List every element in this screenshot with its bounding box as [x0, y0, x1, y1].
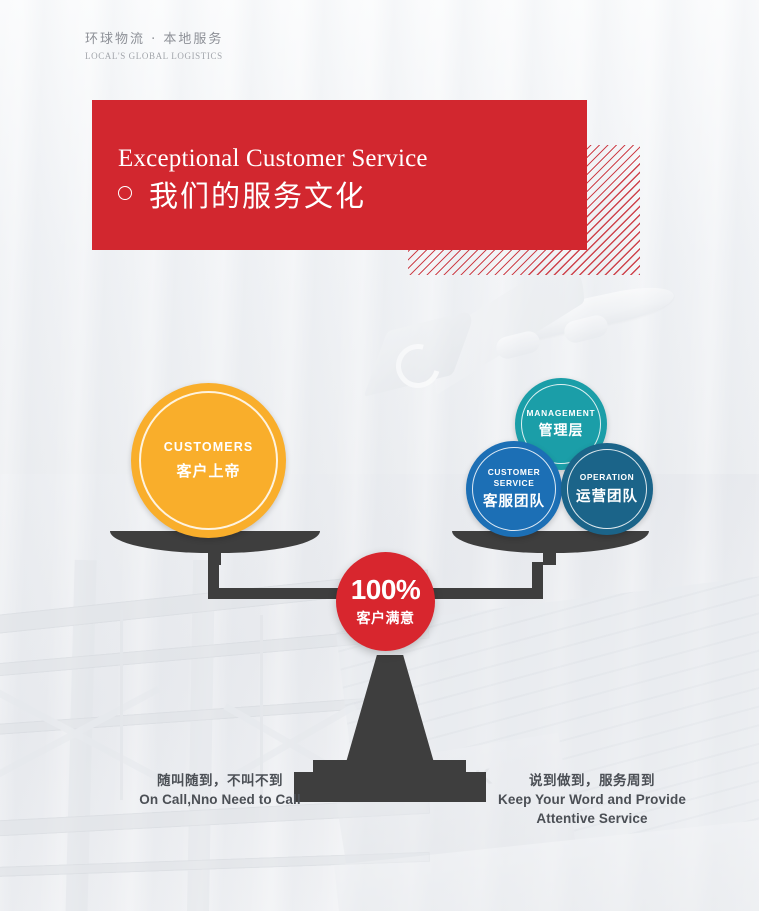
- caption-right-en-line2: Attentive Service: [478, 810, 706, 828]
- scale-pan-right: [452, 531, 649, 553]
- caption-left-cn: 随叫随到，不叫不到: [120, 772, 320, 790]
- bubble-customer-service-en: CUSTOMER SERVICE: [488, 467, 541, 488]
- bubble-cs-en-line2: SERVICE: [494, 478, 535, 488]
- bubble-operation[interactable]: OPERATION 运营团队: [561, 443, 653, 535]
- bubble-customer-service[interactable]: CUSTOMER SERVICE 客服团队: [466, 441, 562, 537]
- satisfaction-value: 100%: [351, 576, 421, 604]
- bubble-customers-en: CUSTOMERS: [164, 440, 254, 456]
- bubble-management-cn: 管理层: [539, 420, 584, 440]
- bubble-operation-cn: 运营团队: [576, 485, 638, 506]
- satisfaction-label: 客户满意: [357, 608, 415, 628]
- scale-pan-stem-right: [543, 551, 556, 565]
- caption-left-en: On Call,Nno Need to Call: [120, 791, 320, 809]
- caption-right-en-line1: Keep Your Word and Provide: [478, 791, 706, 809]
- satisfaction-badge[interactable]: 100% 客户满意: [336, 552, 435, 651]
- bubble-cs-en-line1: CUSTOMER: [488, 467, 541, 477]
- bubble-customers[interactable]: CUSTOMERS 客户上帝: [131, 383, 286, 538]
- bubble-operation-en: OPERATION: [580, 472, 635, 483]
- bubble-management-en: MANAGEMENT: [527, 408, 596, 419]
- bubble-customer-service-cn: 客服团队: [483, 490, 545, 511]
- scale-base-plate: [294, 772, 486, 802]
- poster-canvas: MAERSK 环球物流 · 本地服务 LOCAL'S GLOBAL LOGIST…: [0, 0, 759, 911]
- caption-right-cn: 说到做到，服务周到: [478, 772, 706, 790]
- caption-left: 随叫随到，不叫不到 On Call,Nno Need to Call: [120, 772, 320, 809]
- caption-right: 说到做到，服务周到 Keep Your Word and Provide Att…: [478, 772, 706, 829]
- bubble-customers-cn: 客户上帝: [176, 460, 240, 481]
- scale-fulcrum: [343, 655, 437, 773]
